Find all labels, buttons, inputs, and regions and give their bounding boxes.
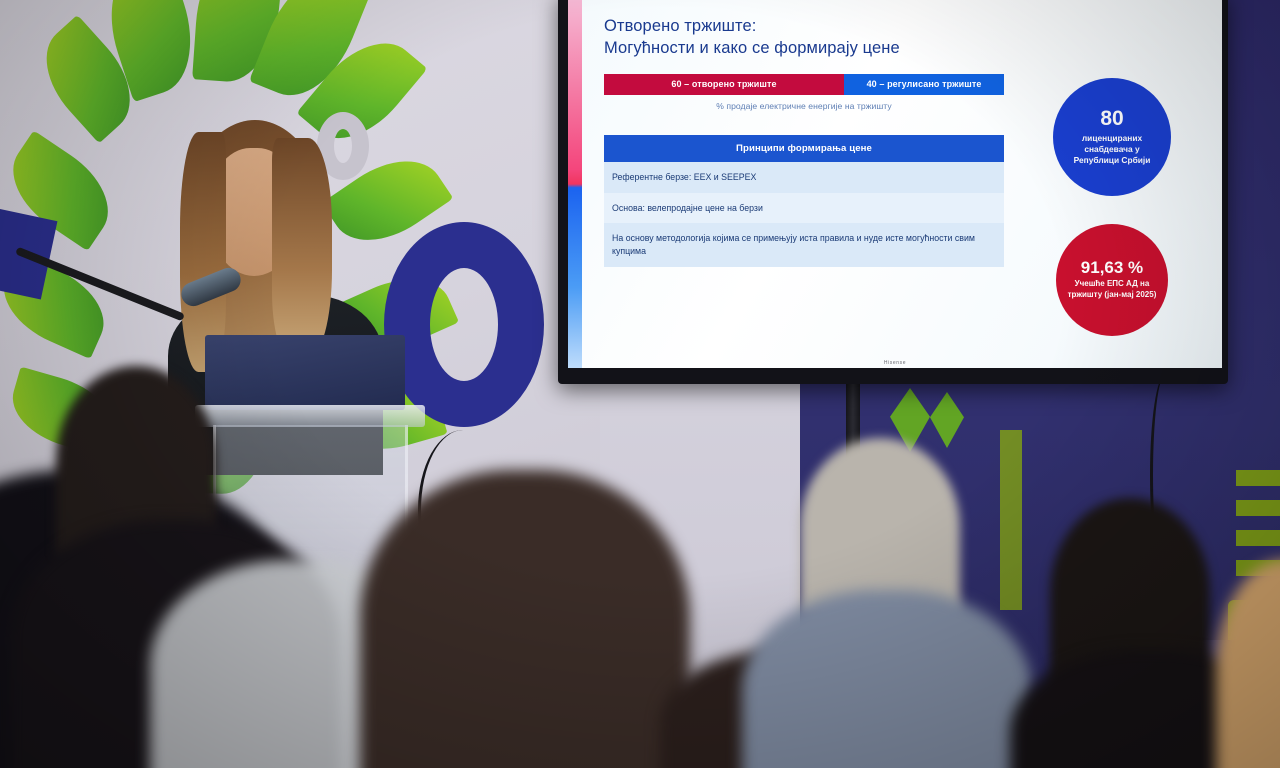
slide-accent-strip	[568, 0, 582, 368]
presentation-room-scene: Отворено тржиште: Могућности и како се ф…	[0, 0, 1280, 768]
backdrop-green-bar-1	[1236, 470, 1280, 486]
slide-content: Отворено тржиште: Могућности и како се ф…	[582, 0, 1222, 368]
lectern-top-surface	[195, 405, 425, 427]
backdrop-green-bar-2	[1236, 500, 1280, 516]
slide-title-line-1: Отворено тржиште:	[604, 17, 756, 35]
table-row: На основу методологија којима се примењу…	[604, 223, 1004, 267]
audience-member-silhouette	[360, 470, 690, 768]
backdrop-green-bar-3	[1236, 530, 1280, 546]
audience-member-silhouette	[742, 590, 1032, 768]
market-split-bar: 60 – отворено тржиште 40 – регулисано тр…	[604, 74, 1004, 95]
speaker-hair-right	[272, 138, 332, 358]
slide-stats-column: 80 лиценцираних снабдевача у Републици С…	[1018, 74, 1206, 336]
backdrop-green-strip-right	[1000, 430, 1022, 610]
stat-suppliers-number: 80	[1100, 108, 1123, 129]
stat-market-share-number: 91,63 %	[1081, 259, 1143, 276]
slide-columns: 60 – отворено тржиште 40 – регулисано тр…	[604, 74, 1206, 336]
slide-title-line-2: Могућности и како се формирају цене	[604, 38, 1206, 60]
laptop-screen	[205, 335, 405, 410]
table-header: Принципи формирања цене	[604, 135, 1004, 162]
stat-circle-suppliers: 80 лиценцираних снабдевача у Републици С…	[1053, 78, 1171, 196]
television-display: Отворено тржиште: Могућности и како се ф…	[558, 0, 1228, 384]
stat-market-share-label: Учешће ЕПС АД на тржишту (јан-мај 2025)	[1056, 279, 1168, 300]
bar-segment-open-market: 60 – отворено тржиште	[604, 74, 844, 95]
presentation-slide: Отворено тржиште: Могућности и како се ф…	[568, 0, 1222, 368]
wall-letter-o-blue	[384, 222, 544, 427]
tv-screen: Отворено тржиште: Могућности и како се ф…	[568, 0, 1222, 368]
table-row: Основа: велепродајне цене на берзи	[604, 193, 1004, 224]
table-row: Референтне берзе: EEX и SEEPEX	[604, 162, 1004, 193]
bar-caption: % продаје електричне енергије на тржишту	[604, 101, 1004, 111]
stat-suppliers-label: лиценцираних снабдевача у Републици Срби…	[1053, 133, 1171, 166]
bar-segment-regulated-market: 40 – регулисано тржиште	[844, 74, 1004, 95]
slide-main-column: 60 – отворено тржиште 40 – регулисано тр…	[604, 74, 1004, 336]
stat-circle-market-share: 91,63 % Учешће ЕПС АД на тржишту (јан-ма…	[1056, 224, 1168, 336]
tv-brand-logo: Hisense	[884, 360, 906, 366]
slide-title: Отворено тржиште: Могућности и како се ф…	[604, 16, 1206, 60]
price-principles-table: Принципи формирања цене Референтне берзе…	[604, 135, 1004, 267]
